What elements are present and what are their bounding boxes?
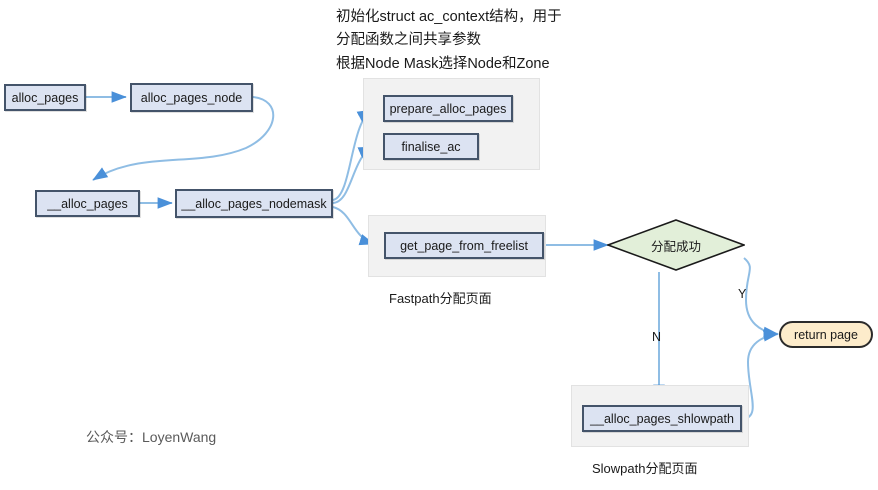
edge-decision-yes-to-return — [744, 258, 778, 334]
caption-fastpath: Fastpath分配页面 — [389, 288, 492, 307]
diagram-canvas: 初始化struct ac_context结构，用于 分配函数之间共享参数 根据N… — [0, 0, 878, 490]
node-alloc-pages-label: alloc_pages — [12, 91, 79, 105]
node-finalise-ac-label: finalise_ac — [401, 140, 460, 154]
node-alloc-pages-node[interactable]: alloc_pages_node — [130, 83, 253, 112]
caption-slowpath: Slowpath分配页面 — [592, 458, 697, 477]
node-prepare-alloc-pages[interactable]: prepare_alloc_pages — [383, 95, 513, 122]
edge-label-yes: Y — [738, 287, 746, 301]
node-alloc-pages-node-label: alloc_pages_node — [141, 91, 242, 105]
watermark-author: 公众号：LoyenWang — [86, 427, 216, 447]
node-dunder-alloc-pages-shlowpath-label: __alloc_pages_shlowpath — [590, 412, 734, 426]
node-dunder-alloc-pages[interactable]: __alloc_pages — [35, 190, 140, 217]
node-return-page-label: return page — [794, 328, 858, 342]
node-dunder-alloc-pages-nodemask-label: __alloc_pages_nodemask — [181, 197, 326, 211]
node-dunder-alloc-pages-nodemask[interactable]: __alloc_pages_nodemask — [175, 189, 333, 218]
node-get-page-from-freelist-label: get_page_from_freelist — [400, 239, 528, 253]
node-finalise-ac[interactable]: finalise_ac — [383, 133, 479, 160]
node-get-page-from-freelist[interactable]: get_page_from_freelist — [384, 232, 544, 259]
node-dunder-alloc-pages-label: __alloc_pages — [47, 197, 128, 211]
edge-label-no: N — [652, 330, 661, 344]
node-return-page[interactable]: return page — [779, 321, 873, 348]
node-decision-label: 分配成功 — [651, 236, 701, 255]
node-dunder-alloc-pages-shlowpath[interactable]: __alloc_pages_shlowpath — [582, 405, 742, 432]
ac-context-note: 初始化struct ac_context结构，用于 分配函数之间共享参数 根据N… — [336, 6, 562, 76]
node-alloc-pages[interactable]: alloc_pages — [4, 84, 86, 111]
node-prepare-alloc-pages-label: prepare_alloc_pages — [390, 102, 507, 116]
node-decision-allocation-success[interactable]: 分配成功 — [607, 219, 745, 271]
